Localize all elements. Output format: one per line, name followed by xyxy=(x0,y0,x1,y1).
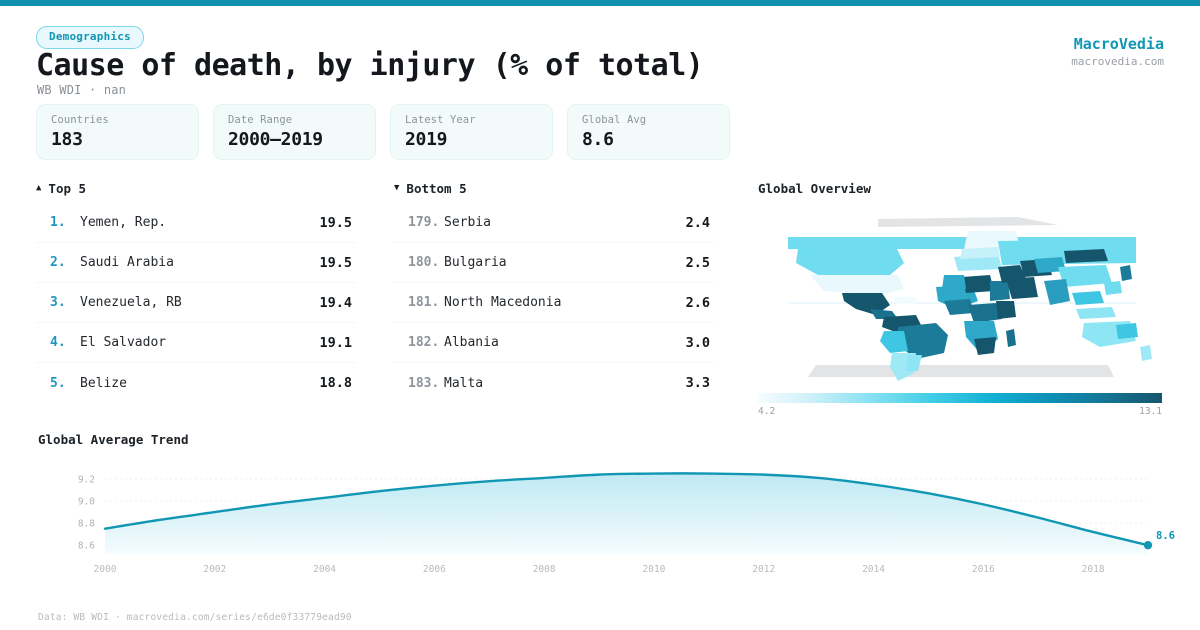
country-value: 19.1 xyxy=(319,335,352,351)
page-title: Cause of death, by injury (% of total) xyxy=(36,48,703,83)
country-name: Yemen, Rep. xyxy=(80,215,319,230)
country-value: 2.6 xyxy=(686,295,710,311)
rank-number: 1. xyxy=(50,215,80,230)
country-name: Venezuela, RB xyxy=(80,295,319,310)
map-legend-gradient xyxy=(758,393,1162,403)
country-value: 19.5 xyxy=(319,215,352,231)
country-value: 19.4 xyxy=(319,295,352,311)
stat-cards: Countries 183 Date Range 2000—2019 Lates… xyxy=(36,104,730,160)
table-row[interactable]: 2. Saudi Arabia 19.5 xyxy=(36,243,356,283)
rank-number: 179. xyxy=(408,215,444,230)
svg-text:9.2: 9.2 xyxy=(78,475,95,486)
stat-label: Global Avg xyxy=(582,114,715,127)
table-row[interactable]: 180. Bulgaria 2.5 xyxy=(394,243,714,283)
world-choropleth-map[interactable] xyxy=(758,205,1162,387)
svg-text:2012: 2012 xyxy=(752,564,775,575)
top-accent-bar xyxy=(0,0,1200,6)
rank-number: 181. xyxy=(408,295,444,310)
stat-label: Latest Year xyxy=(405,114,538,127)
stat-card-global-avg: Global Avg 8.6 xyxy=(567,104,730,160)
rank-lists: ▲ Top 5 1. Yemen, Rep. 19.5 2. Saudi Ara… xyxy=(36,181,716,403)
rank-number: 2. xyxy=(50,255,80,270)
stat-card-latest-year: Latest Year 2019 xyxy=(390,104,553,160)
stat-card-date-range: Date Range 2000—2019 xyxy=(213,104,376,160)
map-legend-labels: 4.2 13.1 xyxy=(758,406,1162,418)
bottom-5-title: Bottom 5 xyxy=(406,181,466,196)
svg-text:9.0: 9.0 xyxy=(78,497,95,508)
svg-text:2002: 2002 xyxy=(203,564,226,575)
rank-number: 3. xyxy=(50,295,80,310)
stat-value: 2019 xyxy=(405,128,538,152)
trend-title: Global Average Trend xyxy=(38,432,189,447)
stat-label: Date Range xyxy=(228,114,361,127)
triangle-down-icon: ▼ xyxy=(394,184,399,193)
table-row[interactable]: 181. North Macedonia 2.6 xyxy=(394,283,714,323)
trend-chart-svg: 8.68.89.09.28.62000200220042006200820102… xyxy=(0,452,1200,582)
svg-text:2014: 2014 xyxy=(862,564,885,575)
country-name: Malta xyxy=(444,376,686,391)
rank-number: 183. xyxy=(408,376,444,391)
rank-number: 180. xyxy=(408,255,444,270)
stat-card-countries: Countries 183 xyxy=(36,104,199,160)
rank-number: 182. xyxy=(408,335,444,350)
country-name: Serbia xyxy=(444,215,686,230)
svg-text:2006: 2006 xyxy=(423,564,446,575)
triangle-up-icon: ▲ xyxy=(36,184,41,193)
legend-min-value: 4.2 xyxy=(758,406,775,417)
country-value: 18.8 xyxy=(319,375,352,391)
infographic-page: Demographics Cause of death, by injury (… xyxy=(0,0,1200,630)
country-name: Belize xyxy=(80,376,319,391)
table-row[interactable]: 179. Serbia 2.4 xyxy=(394,203,714,243)
bottom-5-list: ▼ Bottom 5 179. Serbia 2.4 180. Bulgaria… xyxy=(394,181,714,403)
global-overview-section: Global Overview xyxy=(758,181,1162,418)
country-name: El Salvador xyxy=(80,335,319,350)
svg-text:2010: 2010 xyxy=(643,564,666,575)
brand-url: macrovedia.com xyxy=(1071,55,1164,68)
country-name: Albania xyxy=(444,335,686,350)
category-badge: Demographics xyxy=(36,26,144,49)
svg-text:2004: 2004 xyxy=(313,564,336,575)
country-value: 2.4 xyxy=(686,215,710,231)
svg-text:2000: 2000 xyxy=(94,564,117,575)
stat-label: Countries xyxy=(51,114,184,127)
svg-text:2008: 2008 xyxy=(533,564,556,575)
table-row[interactable]: 3. Venezuela, RB 19.4 xyxy=(36,283,356,323)
brand-name: MacroVedia xyxy=(1074,35,1164,53)
table-row[interactable]: 4. El Salvador 19.1 xyxy=(36,323,356,363)
svg-text:8.6: 8.6 xyxy=(1156,530,1175,542)
top-5-title: Top 5 xyxy=(48,181,86,196)
svg-text:8.6: 8.6 xyxy=(78,541,95,552)
rank-number: 4. xyxy=(50,335,80,350)
country-name: Bulgaria xyxy=(444,255,686,270)
country-name: Saudi Arabia xyxy=(80,255,319,270)
map-title: Global Overview xyxy=(758,181,1162,196)
svg-text:2016: 2016 xyxy=(972,564,995,575)
table-row[interactable]: 1. Yemen, Rep. 19.5 xyxy=(36,203,356,243)
table-row[interactable]: 183. Malta 3.3 xyxy=(394,363,714,403)
top-5-list: ▲ Top 5 1. Yemen, Rep. 19.5 2. Saudi Ara… xyxy=(36,181,356,403)
global-average-trend-chart[interactable]: 8.68.89.09.28.62000200220042006200820102… xyxy=(0,452,1200,582)
country-value: 3.0 xyxy=(686,335,710,351)
stat-value: 183 xyxy=(51,128,184,152)
stat-value: 2000—2019 xyxy=(228,128,361,152)
table-row[interactable]: 5. Belize 18.8 xyxy=(36,363,356,403)
footer-source: Data: WB WDI · macrovedia.com/series/e6d… xyxy=(38,612,352,623)
legend-max-value: 13.1 xyxy=(1139,406,1162,417)
rank-number: 5. xyxy=(50,376,80,391)
country-value: 19.5 xyxy=(319,255,352,271)
bottom-5-heading: ▼ Bottom 5 xyxy=(394,181,714,196)
world-map-svg xyxy=(758,205,1162,387)
country-value: 2.5 xyxy=(686,255,710,271)
svg-text:8.8: 8.8 xyxy=(78,519,95,530)
country-name: North Macedonia xyxy=(444,295,686,310)
table-row[interactable]: 182. Albania 3.0 xyxy=(394,323,714,363)
stat-value: 8.6 xyxy=(582,128,715,152)
svg-text:2018: 2018 xyxy=(1082,564,1105,575)
country-value: 3.3 xyxy=(686,375,710,391)
page-subtitle: WB WDI · nan xyxy=(37,83,126,97)
top-5-heading: ▲ Top 5 xyxy=(36,181,356,196)
